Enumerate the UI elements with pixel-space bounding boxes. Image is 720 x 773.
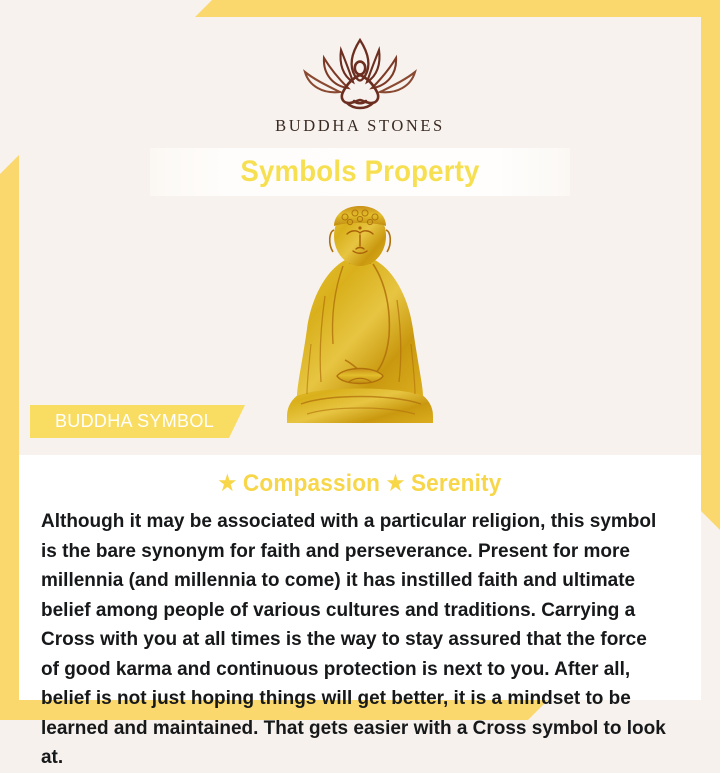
title-banner: Symbols Property [150,148,570,196]
poster-page: BUDDHA STONES Symbols Property [0,0,720,720]
page-title: Symbols Property [240,155,479,189]
lotus-meditation-icon [285,34,435,112]
brand-name: BUDDHA STONES [275,116,445,136]
star-icon-right: ★ [387,472,405,495]
ribbon-label: BUDDHA SYMBOL [30,411,214,432]
decor-band-top [195,0,720,17]
hero-ribbon: BUDDHA SYMBOL [30,405,245,438]
brand-logo: BUDDHA STONES [19,34,701,136]
subhead-compassion: Compassion [243,470,380,497]
content-panel: ★ Compassion ★ Serenity Although it may … [19,455,701,700]
subhead-serenity: Serenity [411,470,502,497]
poster-card: BUDDHA STONES Symbols Property [19,17,701,700]
star-icon-left: ★ [219,472,237,495]
seated-golden-buddha-statue [265,204,455,429]
poster-header: BUDDHA STONES Symbols Property [19,17,701,196]
decor-band-right [701,17,720,530]
section-subhead: ★ Compassion ★ Serenity [60,470,660,498]
hero-image [19,204,701,429]
decor-band-left [0,155,19,720]
section-body-text: Although it may be associated with a par… [41,507,669,773]
